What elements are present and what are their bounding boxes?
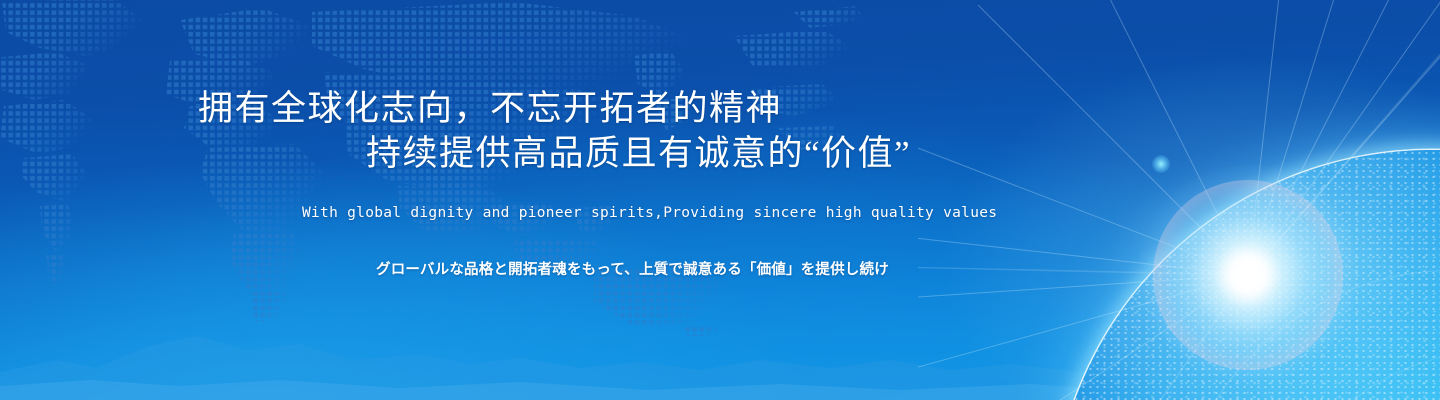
headline-line-1: 拥有全球化志向，不忘开拓者的精神 xyxy=(198,91,782,126)
headline-line-2: 持续提供高品质且有诚意的“价值” xyxy=(366,136,911,171)
banner-copy: 拥有全球化志向，不忘开拓者的精神 持续提供高品质且有诚意的“价值” With g… xyxy=(0,0,1130,400)
subtitle-japanese: グローバルな品格と開拓者魂をもって、上質で誠意ある「価値」を提供し続け xyxy=(376,258,889,279)
hero-banner: 拥有全球化志向，不忘开拓者的精神 持续提供高品质且有诚意的“价值” With g… xyxy=(0,0,1440,400)
flare-core xyxy=(1138,165,1358,385)
lens-flare-dot-icon xyxy=(1152,155,1170,173)
subtitle-english: With global dignity and pioneer spirits,… xyxy=(302,205,997,221)
